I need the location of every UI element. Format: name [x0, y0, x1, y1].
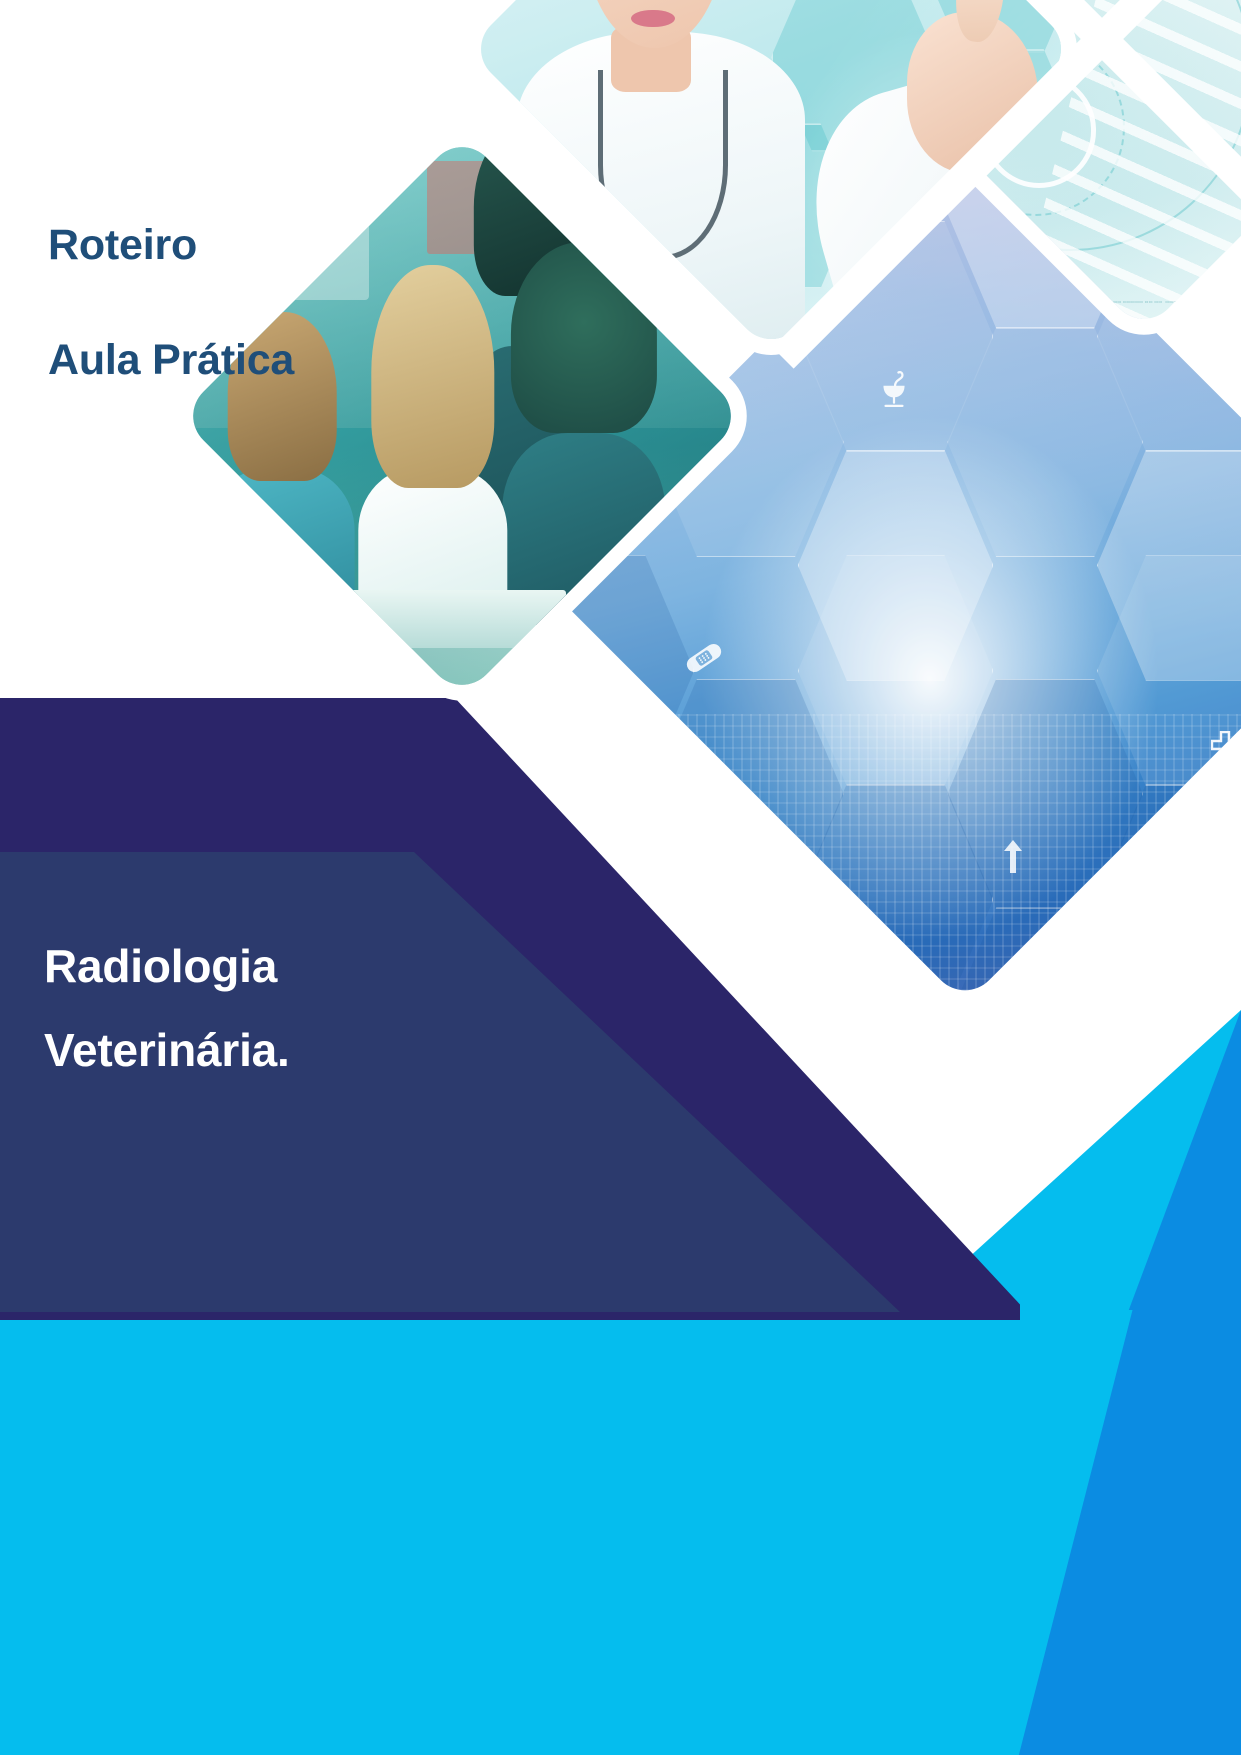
page-eyebrow-title: Roteiro Aula Prática: [48, 160, 294, 446]
pill-capsule-hex-icon: [861, 0, 974, 77]
arrow-up-icon: [1000, 837, 1026, 880]
white-separator-band: [924, 0, 1241, 279]
eyebrow-line-1: Roteiro: [48, 217, 294, 274]
eyebrow-line-2: Aula Prática: [48, 332, 294, 389]
tile-dna-hud-photo: ▭ ▭▭ ▭ ▭ ▭▭ ▭ ▭▭ ▭▭▭ ▭▭ ▭▭ ▭▭▭▭ ▭▭ ▭▭ ▭ …: [861, 0, 1241, 333]
cover-page: ▭ ▭▭ ▭ ▭ ▭▭ ▭ ▭▭ ▭▭▭ ▭▭ ▭▭ ▭▭▭▭ ▭▭ ▭▭ ▭ …: [0, 0, 1241, 1755]
page-title-line-2: Veterinária.: [44, 1009, 684, 1093]
bandage-icon: [683, 643, 725, 673]
pharmacy-bowl-icon: [877, 371, 911, 409]
page-title-line-1: Radiologia: [44, 925, 684, 1009]
doctor-figure: [511, 0, 846, 353]
page-title: Radiologia Veterinária.: [44, 925, 684, 1092]
medical-cross-icon: [1211, 731, 1239, 759]
